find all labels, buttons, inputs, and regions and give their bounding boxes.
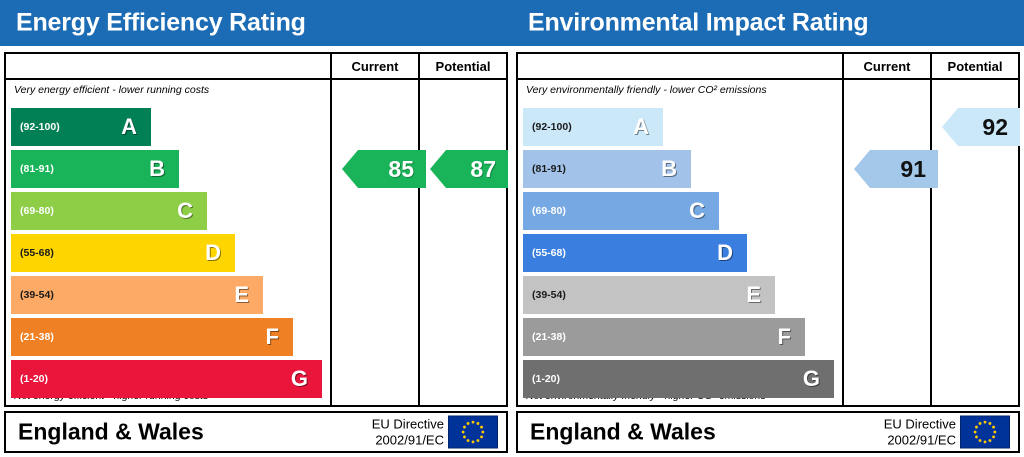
column-header-potential: Potential bbox=[930, 54, 1018, 78]
rating-chart-energy-efficiency: Current Potential Very energy efficient … bbox=[4, 52, 508, 407]
band-range-label: (55-68) bbox=[20, 247, 54, 259]
directive-line-1: EU Directive bbox=[372, 416, 444, 432]
rating-band-A: (92-100) A bbox=[523, 108, 663, 146]
band-letter-label: B bbox=[661, 158, 677, 180]
band-letter-label: G bbox=[291, 368, 308, 390]
band-range-label: (55-68) bbox=[532, 247, 566, 259]
band-range-label: (39-54) bbox=[532, 289, 566, 301]
potential-rating-value: 92 bbox=[982, 116, 1008, 139]
directive-line-1: EU Directive bbox=[884, 416, 956, 432]
column-divider-current bbox=[842, 80, 844, 405]
band-letter-label: A bbox=[633, 116, 649, 138]
rating-band-B: (81-91) B bbox=[11, 150, 179, 188]
band-letter-label: A bbox=[121, 116, 137, 138]
panel-title: Environmental Impact Rating bbox=[528, 9, 869, 38]
chart-header-row: Current Potential bbox=[6, 54, 506, 80]
band-range-label: (69-80) bbox=[532, 205, 566, 217]
band-range-label: (92-100) bbox=[20, 121, 60, 133]
rating-band-F: (21-38) F bbox=[523, 318, 805, 356]
panel-title: Energy Efficiency Rating bbox=[16, 9, 306, 38]
rating-band-C: (69-80) C bbox=[11, 192, 207, 230]
caption-top: Very environmentally friendly - lower CO… bbox=[526, 84, 767, 96]
column-header-current: Current bbox=[842, 54, 930, 78]
panel-titlebar-environmental-impact: Environmental Impact Rating bbox=[512, 0, 1024, 46]
band-range-label: (81-91) bbox=[532, 163, 566, 175]
rating-band-E: (39-54) E bbox=[11, 276, 263, 314]
rating-chart-environmental-impact: Current Potential Very environmentally f… bbox=[516, 52, 1020, 407]
directive-line-2: 2002/91/EC bbox=[884, 432, 956, 448]
column-divider-current bbox=[330, 80, 332, 405]
band-range-label: (1-20) bbox=[532, 373, 560, 385]
epc-rating-graphs: Energy Efficiency Rating Current Potenti… bbox=[0, 0, 1024, 457]
eu-flag-icon bbox=[448, 416, 498, 449]
rating-band-B: (81-91) B bbox=[523, 150, 691, 188]
rating-panel-energy-efficiency: Energy Efficiency Rating Current Potenti… bbox=[0, 0, 512, 457]
rating-band-D: (55-68) D bbox=[11, 234, 235, 272]
current-rating-value: 85 bbox=[388, 158, 414, 181]
band-range-label: (69-80) bbox=[20, 205, 54, 217]
rating-band-A: (92-100) A bbox=[11, 108, 151, 146]
potential-rating-arrow: 87 bbox=[430, 150, 508, 188]
band-letter-label: B bbox=[149, 158, 165, 180]
band-letter-label: C bbox=[177, 200, 193, 222]
eu-flag-icon bbox=[960, 416, 1010, 449]
rating-band-C: (69-80) C bbox=[523, 192, 719, 230]
band-range-label: (21-38) bbox=[20, 331, 54, 343]
rating-band-G: (1-20) G bbox=[523, 360, 834, 398]
column-divider-potential bbox=[930, 80, 932, 405]
panel-titlebar-energy-efficiency: Energy Efficiency Rating bbox=[0, 0, 512, 46]
band-letter-label: E bbox=[234, 284, 249, 306]
band-letter-label: F bbox=[778, 326, 791, 348]
chart-header-row: Current Potential bbox=[518, 54, 1018, 80]
band-range-label: (92-100) bbox=[532, 121, 572, 133]
band-range-label: (1-20) bbox=[20, 373, 48, 385]
bands-area: Very energy efficient - lower running co… bbox=[6, 80, 330, 405]
directive-line-2: 2002/91/EC bbox=[372, 432, 444, 448]
region-label: England & Wales bbox=[530, 419, 716, 446]
current-rating-arrow: 85 bbox=[342, 150, 426, 188]
rating-band-G: (1-20) G bbox=[11, 360, 322, 398]
current-rating-value: 91 bbox=[900, 158, 926, 181]
column-header-current: Current bbox=[330, 54, 418, 78]
bands-area: Very environmentally friendly - lower CO… bbox=[518, 80, 842, 405]
band-letter-label: G bbox=[803, 368, 820, 390]
band-range-label: (81-91) bbox=[20, 163, 54, 175]
band-letter-label: D bbox=[205, 242, 221, 264]
caption-top: Very energy efficient - lower running co… bbox=[14, 84, 209, 96]
rating-panel-environmental-impact: Environmental Impact Rating Current Pote… bbox=[512, 0, 1024, 457]
eu-directive-label: EU Directive 2002/91/EC bbox=[372, 416, 444, 447]
potential-rating-arrow: 92 bbox=[942, 108, 1020, 146]
potential-rating-value: 87 bbox=[470, 158, 496, 181]
panel-footer-energy-efficiency: England & Wales EU Directive 2002/91/EC bbox=[4, 411, 508, 453]
band-letter-label: D bbox=[717, 242, 733, 264]
band-letter-label: E bbox=[746, 284, 761, 306]
band-range-label: (39-54) bbox=[20, 289, 54, 301]
band-letter-label: C bbox=[689, 200, 705, 222]
panel-footer-environmental-impact: England & Wales EU Directive 2002/91/EC bbox=[516, 411, 1020, 453]
band-letter-label: F bbox=[266, 326, 279, 348]
eu-directive-label: EU Directive 2002/91/EC bbox=[884, 416, 956, 447]
band-range-label: (21-38) bbox=[532, 331, 566, 343]
rating-band-D: (55-68) D bbox=[523, 234, 747, 272]
column-divider-potential bbox=[418, 80, 420, 405]
column-header-potential: Potential bbox=[418, 54, 506, 78]
current-rating-arrow: 91 bbox=[854, 150, 938, 188]
rating-band-F: (21-38) F bbox=[11, 318, 293, 356]
rating-band-E: (39-54) E bbox=[523, 276, 775, 314]
region-label: England & Wales bbox=[18, 419, 204, 446]
